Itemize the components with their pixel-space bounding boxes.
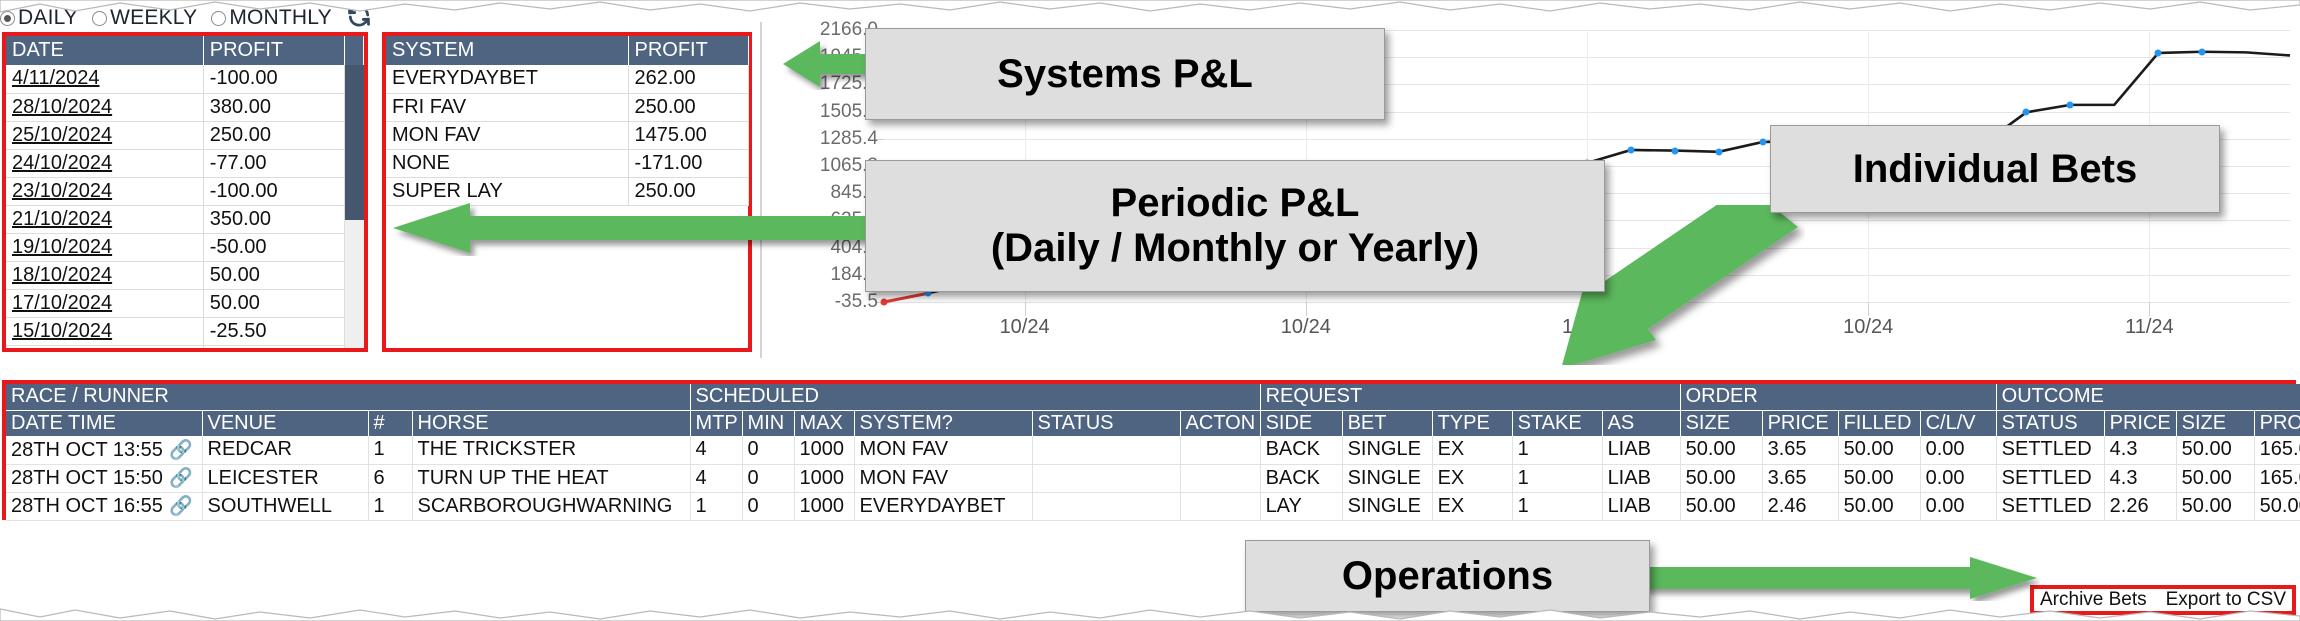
cell-num: 1 [368,492,412,520]
cell-filled: 50.00 [1838,436,1920,464]
cell-side: LAY [1260,492,1342,520]
cell-datetime: 28TH OCT 13:55🔗 [6,436,202,464]
cell-out-status: SETTLED [1996,436,2104,464]
cell-out-size: 50.00 [2176,464,2254,492]
table-row[interactable]: 19/10/2024-50.00 [6,233,364,261]
radio-daily[interactable]: DAILY [0,6,78,30]
callout-operations-text: Operations [1342,554,1553,599]
cell-out-status: SETTLED [1996,492,2104,520]
table-row[interactable]: 28/10/2024380.00 [6,93,364,121]
cell-profit: -171.00 [628,149,748,177]
callout-periodic-pnl: Periodic P&L (Daily / Monthly or Yearly) [865,160,1605,292]
cell-profit: 115.00 [203,345,344,348]
col-2-[interactable]: # [368,410,412,436]
arrow-operations [1640,555,2040,601]
cell-system: MON FAV [854,436,1032,464]
col-4-mtp[interactable]: MTP [690,410,742,436]
col-14-as[interactable]: AS [1602,410,1680,436]
cell-date[interactable]: 28/10/2024 [6,93,203,121]
group-header-outcome: OUTCOME [1996,384,2300,410]
cell-min: 0 [742,464,794,492]
date-link[interactable]: 15/10/2024 [12,320,112,342]
radio-daily-label: DAILY [18,6,78,30]
individual-bets-body: 28TH OCT 13:55🔗REDCAR1THE TRICKSTER40100… [6,436,2300,520]
cell-profit: 50.00 [203,289,344,317]
col-system[interactable]: SYSTEM [386,36,628,65]
cell-date[interactable]: 21/10/2024 [6,205,203,233]
y-tick-mark [877,139,884,140]
periodic-pnl-table: DATE PROFIT 4/11/2024-100.0028/10/202438… [6,36,364,348]
chart-data-point[interactable] [1715,148,1722,155]
callout-operations: Operations [1245,540,1650,612]
callout-periodic-line1: Periodic P&L [1111,181,1360,225]
table-header-row: SYSTEM PROFIT [386,36,748,65]
col-6-max[interactable]: MAX [794,410,854,436]
table-row[interactable]: 4/11/2024-100.00 [6,65,364,93]
col-11-bet[interactable]: BET [1342,410,1432,436]
cell-max: 1000 [794,464,854,492]
periodic-pnl-scrollbar[interactable] [345,65,364,348]
x-tick-mark [2149,302,2150,316]
table-row[interactable]: NONE-171.00 [386,149,748,177]
callout-systems-pnl: Systems P&L [865,28,1385,120]
cell-system: FRI FAV [386,93,628,121]
cell-venue: SOUTHWELL [202,492,368,520]
cell-profit: -25.50 [203,317,344,345]
table-row[interactable]: 28TH OCT 16:55🔗SOUTHWELL1SCARBOROUGHWARN… [6,492,2300,520]
col-8-status[interactable]: STATUS [1032,410,1180,436]
x-tick-label: 10/24 [1000,316,1050,339]
cell-clv: 0.00 [1920,464,1996,492]
x-tick-mark [1868,302,1869,316]
col-22-profit[interactable]: PROFIT [2254,410,2300,436]
date-link[interactable]: 18/10/2024 [12,264,112,286]
cell-order-price: 3.65 [1762,436,1838,464]
col-profit[interactable]: PROFIT [628,36,748,65]
cell-date[interactable]: 17/10/2024 [6,289,203,317]
callout-individual-text: Individual Bets [1853,147,2138,192]
cell-num: 1 [368,436,412,464]
x-tick-label: 10/24 [1281,316,1331,339]
date-link[interactable]: 4/11/2024 [12,67,100,89]
arrow-periodic [390,200,870,256]
cell-out-price: 4.3 [2104,436,2176,464]
cell-system: MON FAV [854,464,1032,492]
cell-profit: -100.00 [203,65,344,93]
cell-order-price: 2.46 [1762,492,1838,520]
group-header-order: ORDER [1680,384,1996,410]
cell-as: LIAB [1602,436,1680,464]
table-row[interactable]: 24/10/2024-77.00 [6,149,364,177]
cell-profit: 165.00 [2254,464,2300,492]
cell-type: EX [1432,492,1512,520]
cell-date[interactable]: 24/10/2024 [6,149,203,177]
col-7-system[interactable]: SYSTEM? [854,410,1032,436]
cell-order-size: 50.00 [1680,436,1762,464]
callout-periodic-text: Periodic P&L (Daily / Monthly or Yearly) [991,181,1479,271]
cell-bet: SINGLE [1342,464,1432,492]
table-row[interactable]: 23/10/2024-100.00 [6,177,364,205]
cell-max: 1000 [794,436,854,464]
systems-pnl-panel: SYSTEM PROFIT EVERYDAYBET262.00FRI FAV25… [382,32,752,352]
group-header-request: REQUEST [1260,384,1680,410]
radio-monthly[interactable]: MONTHLY [211,6,332,30]
y-tick-label: -35.5 [835,291,878,313]
callout-periodic-line2: (Daily / Monthly or Yearly) [991,226,1479,270]
radio-monthly-label: MONTHLY [229,6,332,30]
cell-bet: SINGLE [1342,492,1432,520]
cell-profit: 165.00 [2254,436,2300,464]
cell-profit: 250.00 [203,121,344,149]
cell-acton [1180,464,1260,492]
table-row[interactable]: FRI FAV250.00 [386,93,748,121]
cell-date[interactable]: 14/10/2024 [6,345,203,348]
cell-num: 6 [368,464,412,492]
column-header-row: DATE TIMEVENUE#HORSEMTPMINMAXSYSTEM?STAT… [6,410,2300,436]
individual-bets-table: RACE / RUNNERSCHEDULEDREQUESTORDEROUTCOM… [6,384,2300,521]
cell-profit: -77.00 [203,149,344,177]
link-icon[interactable]: 🔗 [169,496,193,517]
radio-weekly[interactable]: WEEKLY [92,6,197,30]
chart-data-point[interactable] [2067,101,2074,108]
cell-side: BACK [1260,464,1342,492]
individual-bets-panel: RACE / RUNNERSCHEDULEDREQUESTORDEROUTCOM… [2,380,2296,520]
link-icon[interactable]: 🔗 [169,440,193,461]
group-header-scheduled: SCHEDULED [690,384,1260,410]
systems-pnl-body: EVERYDAYBET262.00FRI FAV250.00MON FAV147… [386,65,748,205]
cell-profit: 250.00 [628,93,748,121]
cell-order-price: 3.65 [1762,464,1838,492]
cell-max: 1000 [794,492,854,520]
cell-system: MON FAV [386,121,628,149]
cell-venue: LEICESTER [202,464,368,492]
cell-clv: 0.00 [1920,436,1996,464]
col-12-type[interactable]: TYPE [1432,410,1512,436]
table-row[interactable]: EVERYDAYBET262.00 [386,65,748,93]
period-selector[interactable]: DAILY WEEKLY MONTHLY [0,4,400,32]
link-icon[interactable]: 🔗 [169,468,193,489]
col-10-side[interactable]: SIDE [1260,410,1342,436]
chart-line-start-segment [884,293,928,302]
radio-monthly-circle[interactable] [211,11,226,26]
cell-profit: 50.00 [203,261,344,289]
col-9-acton[interactable]: ACTON [1180,410,1260,436]
chart-data-point[interactable] [2199,48,2206,55]
cell-acton [1180,492,1260,520]
cell-mtp: 4 [690,464,742,492]
col-15-size[interactable]: SIZE [1680,410,1762,436]
date-link[interactable]: 24/10/2024 [12,152,112,174]
cell-datetime: 28TH OCT 16:55🔗 [6,492,202,520]
cell-date[interactable]: 25/10/2024 [6,121,203,149]
periodic-pnl-body: 4/11/2024-100.0028/10/2024380.0025/10/20… [6,65,364,348]
chart-data-point[interactable] [1627,146,1634,153]
col-date[interactable]: DATE [6,36,203,65]
cell-profit: 262.00 [628,65,748,93]
col-13-stake[interactable]: STAKE [1512,410,1602,436]
table-row[interactable]: MON FAV1475.00 [386,121,748,149]
cell-mtp: 4 [690,436,742,464]
cell-sched-status [1032,492,1180,520]
cell-horse: SCARBOROUGHWARNING [412,492,690,520]
cell-out-price: 4.3 [2104,464,2176,492]
archive-bets-button[interactable]: Archive Bets [2040,589,2147,611]
cell-profit: 50.00 [2254,492,2300,520]
x-tick-label: 11/24 [2125,316,2174,339]
cell-stake: 1 [1512,492,1602,520]
cell-out-status: SETTLED [1996,464,2104,492]
col-18-c-l-v[interactable]: C/L/V [1920,410,1996,436]
cell-profit: -100.00 [203,177,344,205]
chart-data-point[interactable] [2023,109,2030,116]
x-tick-mark [1025,302,1026,316]
table-row[interactable]: 18/10/202450.00 [6,261,364,289]
date-link[interactable]: 23/10/2024 [12,180,112,202]
callout-systems-text: Systems P&L [997,52,1253,97]
cell-filled: 50.00 [1838,464,1920,492]
cell-filled: 50.00 [1838,492,1920,520]
group-header-race-runner: RACE / RUNNER [6,384,690,410]
table-row[interactable]: 28TH OCT 13:55🔗REDCAR1THE TRICKSTER40100… [6,436,2300,464]
chart-data-point[interactable] [881,299,888,306]
torn-paper-edge-bottom [0,607,2300,621]
cell-acton [1180,436,1260,464]
periodic-pnl-panel: DATE PROFIT 4/11/2024-100.0028/10/202438… [2,32,368,352]
col-20-price[interactable]: PRICE [2104,410,2176,436]
col-profit[interactable]: PROFIT [203,36,344,65]
y-tick-label: 1285.4 [820,128,878,150]
col-16-price[interactable]: PRICE [1762,410,1838,436]
x-tick-mark [1306,302,1307,316]
table-row[interactable]: 21/10/2024350.00 [6,205,364,233]
cell-date[interactable]: 18/10/2024 [6,261,203,289]
cell-horse: TURN UP THE HEAT [412,464,690,492]
cell-order-size: 50.00 [1680,492,1762,520]
table-row[interactable]: 25/10/2024250.00 [6,121,364,149]
cell-order-size: 50.00 [1680,464,1762,492]
cell-date[interactable]: 23/10/2024 [6,177,203,205]
col-spacer [344,36,363,65]
cell-date[interactable]: 15/10/2024 [6,317,203,345]
cell-date[interactable]: 4/11/2024 [6,65,203,93]
cell-sched-status [1032,464,1180,492]
col-5-min[interactable]: MIN [742,410,794,436]
group-header-row: RACE / RUNNERSCHEDULEDREQUESTORDEROUTCOM… [6,384,2300,410]
cell-profit: 380.00 [203,93,344,121]
refresh-icon[interactable] [346,3,372,34]
operations-panel: Archive Bets Export to CSV [2030,585,2296,615]
cell-datetime: 28TH OCT 15:50🔗 [6,464,202,492]
table-row[interactable]: 14/10/2024115.00 [6,345,364,348]
cell-type: EX [1432,436,1512,464]
cell-profit: 1475.00 [628,121,748,149]
cell-out-size: 50.00 [2176,492,2254,520]
export-csv-button[interactable]: Export to CSV [2166,589,2286,611]
date-link[interactable]: 25/10/2024 [12,124,112,146]
col-21-size[interactable]: SIZE [2176,410,2254,436]
table-row[interactable]: 15/10/2024-25.50 [6,317,364,345]
cell-stake: 1 [1512,464,1602,492]
cell-min: 0 [742,436,794,464]
cell-system: EVERYDAYBET [386,65,628,93]
cell-as: LIAB [1602,492,1680,520]
date-link[interactable]: 17/10/2024 [12,292,112,314]
x-tick-label: 10/24 [1843,316,1893,339]
cell-venue: REDCAR [202,436,368,464]
cell-horse: THE TRICKSTER [412,436,690,464]
cell-date[interactable]: 19/10/2024 [6,233,203,261]
cell-clv: 0.00 [1920,492,1996,520]
date-link[interactable]: 21/10/2024 [12,208,112,230]
cell-mtp: 1 [690,492,742,520]
cell-system: EVERYDAYBET [854,492,1032,520]
cell-sched-status [1032,436,1180,464]
radio-weekly-circle[interactable] [92,11,107,26]
cell-as: LIAB [1602,464,1680,492]
cell-system: NONE [386,149,628,177]
cell-side: BACK [1260,436,1342,464]
col-0-date-time[interactable]: DATE TIME [6,410,202,436]
radio-weekly-label: WEEKLY [110,6,197,30]
date-link[interactable]: 28/10/2024 [12,96,112,118]
systems-pnl-table: SYSTEM PROFIT EVERYDAYBET262.00FRI FAV25… [386,36,749,206]
periodic-pnl-scroll-area[interactable]: DATE PROFIT 4/11/2024-100.0028/10/202438… [6,36,364,348]
cell-type: EX [1432,464,1512,492]
chart-data-point[interactable] [2155,49,2162,56]
cell-out-price: 2.26 [2104,492,2176,520]
scrollbar-thumb[interactable] [345,65,364,220]
col-17-filled[interactable]: FILLED [1838,410,1920,436]
date-link[interactable]: 19/10/2024 [12,236,112,258]
col-1-venue[interactable]: VENUE [202,410,368,436]
cell-profit: 350.00 [203,205,344,233]
col-3-horse[interactable]: HORSE [412,410,690,436]
chart-data-point[interactable] [1759,138,1766,145]
cell-out-size: 50.00 [2176,436,2254,464]
cell-stake: 1 [1512,436,1602,464]
date-link[interactable]: 14/10/2024 [12,348,112,349]
table-row[interactable]: 28TH OCT 15:50🔗LEICESTER6TURN UP THE HEA… [6,464,2300,492]
col-19-status[interactable]: STATUS [1996,410,2104,436]
individual-bets-head: RACE / RUNNERSCHEDULEDREQUESTORDEROUTCOM… [6,384,2300,436]
cell-min: 0 [742,492,794,520]
cell-profit: -50.00 [203,233,344,261]
radio-daily-circle[interactable] [0,11,15,26]
chart-data-point[interactable] [1671,147,1678,154]
table-header-row: DATE PROFIT [6,36,364,65]
callout-individual-bets: Individual Bets [1770,125,2220,213]
cell-bet: SINGLE [1342,436,1432,464]
table-row[interactable]: 17/10/202450.00 [6,289,364,317]
